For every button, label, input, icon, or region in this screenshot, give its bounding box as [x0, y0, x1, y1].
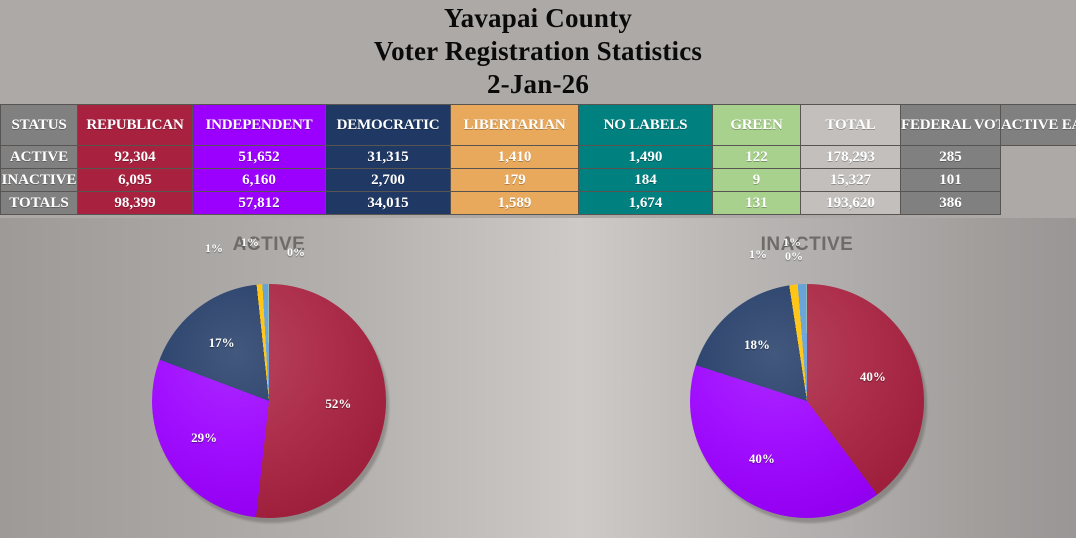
table-row: TOTALS 98,399 57,812 34,015 1,589 1,674 …	[1, 192, 1076, 215]
page-title-line-1: Yavapai County	[0, 2, 1076, 35]
voter-registration-table: STATUS REPUBLICAN INDEPENDENT DEMOCRATIC…	[0, 104, 1076, 215]
pie-slice-label: 1%	[749, 247, 767, 262]
cell-independent: 57,812	[193, 192, 326, 215]
cell-republican: 6,095	[78, 169, 193, 192]
pie-slice-label: 18%	[744, 337, 770, 353]
cell-libertarian: 1,589	[451, 192, 579, 215]
column-header-active-early-voting-list: ACTIVE EARLY VOTING LIST	[1001, 105, 1076, 146]
active-chart-title: ACTIVE	[0, 234, 538, 256]
table-row: INACTIVE 6,095 6,160 2,700 179 184 9 15,…	[1, 169, 1076, 192]
pie-slice-label: 1%	[205, 241, 223, 256]
cell-democratic: 2,700	[326, 169, 451, 192]
column-header-democratic: DEMOCRATIC	[326, 105, 451, 146]
inactive-pie-chart[interactable]	[690, 284, 924, 518]
cell-green: 131	[713, 192, 801, 215]
cell-independent: 6,160	[193, 169, 326, 192]
cell-federal-voters: 285	[901, 146, 1001, 169]
pie-slice-label: 29%	[191, 430, 217, 446]
cell-libertarian: 179	[451, 169, 579, 192]
pie-slice-label: 52%	[325, 396, 351, 412]
cell-status: ACTIVE	[1, 146, 78, 169]
cell-green: 9	[713, 169, 801, 192]
cell-independent: 51,652	[193, 146, 326, 169]
cell-federal-voters: 386	[901, 192, 1001, 215]
column-header-federal-voters: FEDERAL VOTERS	[901, 105, 1001, 146]
cell-no-labels: 184	[579, 169, 713, 192]
slide-canvas: Yavapai County Voter Registration Statis…	[0, 0, 1076, 538]
pie-slice-label: 40%	[860, 369, 886, 385]
column-header-no-labels: NO LABELS	[579, 105, 713, 146]
cell-status: INACTIVE	[1, 169, 78, 192]
pie-slice-label: 0%	[785, 249, 803, 264]
cell-total: 15,327	[801, 169, 901, 192]
cell-green: 122	[713, 146, 801, 169]
pie-slice-label: 1%	[783, 235, 801, 250]
table-row: ACTIVE 92,304 51,652 31,315 1,410 1,490 …	[1, 146, 1076, 169]
cell-republican: 92,304	[78, 146, 193, 169]
active-pie-panel: ACTIVE	[0, 218, 538, 538]
inactive-chart-title: INACTIVE	[538, 234, 1076, 256]
cell-libertarian: 1,410	[451, 146, 579, 169]
column-header-green: GREEN	[713, 105, 801, 146]
charts-region: ACTIVE INACTIVE 52%29%17%1%1%0%40%40%18%…	[0, 218, 1076, 538]
column-header-independent: INDEPENDENT	[193, 105, 326, 146]
pie-slice-label: 0%	[287, 245, 305, 260]
column-header-total: TOTAL	[801, 105, 901, 146]
inactive-pie-wrap	[690, 284, 924, 518]
cell-status: TOTALS	[1, 192, 78, 215]
column-header-status: STATUS	[1, 105, 78, 146]
pie-slice-label: 40%	[749, 451, 775, 467]
cell-democratic: 31,315	[326, 146, 451, 169]
table-header-row: STATUS REPUBLICAN INDEPENDENT DEMOCRATIC…	[1, 105, 1076, 146]
page-title-date: 2-Jan-26	[0, 68, 1076, 101]
page-title-line-2: Voter Registration Statistics	[0, 35, 1076, 68]
aevl-header-text: ACTIVE EARLY VOTING LIST	[1001, 117, 1076, 133]
column-header-republican: REPUBLICAN	[78, 105, 193, 146]
cell-democratic: 34,015	[326, 192, 451, 215]
cell-republican: 98,399	[78, 192, 193, 215]
cell-total: 193,620	[801, 192, 901, 215]
pie-slice-label: 1%	[241, 235, 259, 250]
cell-total: 178,293	[801, 146, 901, 169]
pie-slice-label: 17%	[209, 335, 235, 351]
column-header-libertarian: LIBERTARIAN	[451, 105, 579, 146]
cell-federal-voters: 101	[901, 169, 1001, 192]
inactive-pie-panel: INACTIVE	[538, 218, 1076, 538]
cell-no-labels: 1,674	[579, 192, 713, 215]
cell-no-labels: 1,490	[579, 146, 713, 169]
title-block: Yavapai County Voter Registration Statis…	[0, 0, 1076, 104]
